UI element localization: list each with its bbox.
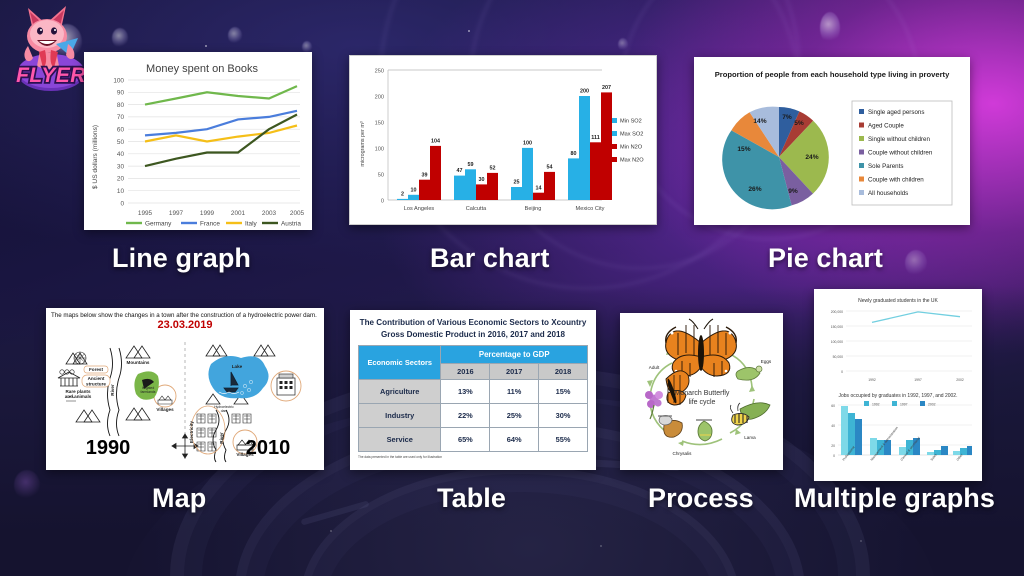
svg-text:14: 14 xyxy=(536,185,542,191)
svg-text:150,000: 150,000 xyxy=(831,325,843,329)
svg-text:farmlands: farmlands xyxy=(141,390,156,394)
svg-text:50: 50 xyxy=(117,139,125,146)
pie-legend-all-households: All households xyxy=(868,190,908,197)
background-star-2 xyxy=(468,30,470,32)
svg-text:100: 100 xyxy=(523,141,532,147)
svg-text:250: 250 xyxy=(375,68,384,74)
svg-text:0: 0 xyxy=(120,200,124,207)
map-hotel-icon xyxy=(271,371,301,401)
svg-text:10: 10 xyxy=(411,187,417,193)
svg-text:20: 20 xyxy=(831,444,835,448)
cell-industry-2017: 25% xyxy=(490,404,539,428)
svg-text:1997: 1997 xyxy=(914,378,922,382)
pie-label-24: 24% xyxy=(805,154,818,161)
bar-category-beijing: Beijing xyxy=(525,206,542,212)
cell-service-2016: 65% xyxy=(441,428,490,452)
line-graph-svg: Money spent on Books $ US dollars (milli… xyxy=(84,52,312,230)
bokeh-orb-3 xyxy=(228,27,242,44)
svg-text:60: 60 xyxy=(831,404,835,408)
svg-text:2005: 2005 xyxy=(290,210,305,217)
caption-map: Map xyxy=(152,483,206,514)
svg-text:2001: 2001 xyxy=(231,210,246,217)
background-star-4 xyxy=(330,530,332,532)
pie-legend-single-aged-persons: Single aged persons xyxy=(868,109,924,116)
svg-text:dam: dam xyxy=(221,409,228,413)
multi-legend-1992: 1992 xyxy=(872,403,880,407)
background-star-6 xyxy=(860,540,862,542)
bar-category-mexico-city: Mexico City xyxy=(576,206,605,212)
caption-process: Process xyxy=(648,483,754,514)
caption-multiple-graphs: Multiple graphs xyxy=(794,483,995,514)
cell-service-2018: 55% xyxy=(539,428,588,452)
svg-text:200,000: 200,000 xyxy=(831,310,843,314)
legend-label-france: France xyxy=(200,220,220,227)
svg-text:Mountains: Mountains xyxy=(127,360,150,365)
bar-legend-max-n2o: Max N2O xyxy=(620,158,644,164)
svg-text:30: 30 xyxy=(117,163,125,170)
pie-legend-sole-parents: Sole Parents xyxy=(868,163,903,170)
pie-label-9: 9% xyxy=(788,188,798,195)
multi-line-title: Newly graduated students in the UK xyxy=(858,298,938,304)
svg-text:0: 0 xyxy=(381,198,384,204)
svg-text:1999: 1999 xyxy=(200,210,215,217)
svg-text:Lake: Lake xyxy=(232,364,243,369)
line-graph-panel: Money spent on Books $ US dollars (milli… xyxy=(84,52,312,230)
svg-text:111: 111 xyxy=(591,135,599,141)
table-footnote: The data presented in the table are used… xyxy=(358,455,588,459)
svg-text:Electricity: Electricity xyxy=(189,421,194,443)
caption-table: Table xyxy=(437,483,506,514)
svg-text:River: River xyxy=(219,432,224,444)
svg-text:80: 80 xyxy=(117,102,125,109)
multi-bar-title: Jobs occupied by graduates in 1992, 1997… xyxy=(839,393,958,399)
table-title-line1: The Contribution of Various Economic Sec… xyxy=(360,318,587,327)
svg-text:50: 50 xyxy=(378,172,384,178)
multiple-graphs-svg: Newly graduated students in the UK 200,0… xyxy=(814,289,982,481)
map-compass xyxy=(172,434,198,458)
svg-text:20: 20 xyxy=(117,176,125,183)
cell-agriculture-2017: 11% xyxy=(490,380,539,404)
svg-text:54: 54 xyxy=(547,165,553,171)
table-title: The Contribution of Various Economic Sec… xyxy=(358,317,588,340)
svg-text:40: 40 xyxy=(831,424,835,428)
svg-text:207: 207 xyxy=(602,85,611,91)
line-graph-title: Money spent on Books xyxy=(146,63,258,75)
svg-text:40: 40 xyxy=(117,151,125,158)
bar-legend-min-so2: Min SO2 xyxy=(620,119,642,125)
svg-text:60: 60 xyxy=(117,127,125,134)
bokeh-orb-8 xyxy=(14,470,40,500)
svg-text:0: 0 xyxy=(833,454,835,458)
table-row: Agriculture 13% 11% 15% xyxy=(359,380,588,404)
svg-text:25: 25 xyxy=(514,180,520,186)
svg-text:150: 150 xyxy=(375,120,384,126)
table-row: Industry 22% 25% 30% xyxy=(359,404,588,428)
svg-text:30: 30 xyxy=(479,177,485,183)
table-header-row-1: Economic Sectors Percentage to GDP xyxy=(359,346,588,364)
line-graph-ylabel: $ US dollars (millions) xyxy=(92,125,99,189)
svg-text:River: River xyxy=(110,384,115,396)
svg-text:104: 104 xyxy=(431,139,440,145)
legend-label-austria: Austria xyxy=(281,220,301,227)
table-panel: The Contribution of Various Economic Sec… xyxy=(350,310,596,470)
multi-bar-legend: 1992 1997 2002 xyxy=(864,401,936,407)
pie-label-26: 26% xyxy=(748,186,761,193)
map-illustration: Forest Ancient structure Rare plants and… xyxy=(46,342,324,470)
table-col-2018: 2018 xyxy=(539,364,588,380)
cell-agriculture-2018: 15% xyxy=(539,380,588,404)
table-col-2016: 2016 xyxy=(441,364,490,380)
bar-legend-max-so2: Max SO2 xyxy=(620,132,643,138)
svg-text:structure: structure xyxy=(86,381,106,386)
svg-text:Villages: Villages xyxy=(156,407,174,412)
pie-chart-panel: Proportion of people from each household… xyxy=(694,57,970,225)
svg-text:1995: 1995 xyxy=(138,210,153,217)
process-panel: Monarch Butterfly life cycle Adult Eggs … xyxy=(620,313,783,470)
legend-label-italy: Italy xyxy=(245,220,258,227)
svg-text:200: 200 xyxy=(375,94,384,100)
svg-text:47: 47 xyxy=(457,168,463,174)
map-date: 23.03.2019 xyxy=(46,319,324,331)
map-panel: The maps below show the changes in a tow… xyxy=(46,308,324,470)
multiple-graphs-panel: Newly graduated students in the UK 200,0… xyxy=(814,289,982,481)
background-star-1 xyxy=(205,45,207,47)
svg-text:80: 80 xyxy=(571,151,577,157)
process-svg: Monarch Butterfly life cycle Adult Eggs … xyxy=(620,313,783,470)
svg-text:52: 52 xyxy=(490,166,496,172)
svg-text:and animals: and animals xyxy=(65,394,92,399)
table-corner-header: Economic Sectors xyxy=(359,346,441,380)
process-stage-adult: Adult xyxy=(649,365,660,370)
svg-text:50,000: 50,000 xyxy=(833,355,843,359)
table-row-label-agriculture: Agriculture xyxy=(359,380,441,404)
bar-legend-min-n2o: Min N2O xyxy=(620,145,643,151)
svg-text:1997: 1997 xyxy=(169,210,184,217)
svg-text:100: 100 xyxy=(113,77,124,84)
svg-text:70: 70 xyxy=(117,114,125,121)
svg-text:59: 59 xyxy=(468,162,474,168)
cell-service-2017: 64% xyxy=(490,428,539,452)
svg-text:2002: 2002 xyxy=(956,378,964,382)
legend-label-germany: Germany xyxy=(145,220,172,227)
pie-legend-couple-with-children: Couple with children xyxy=(868,177,924,184)
cell-agriculture-2016: 13% xyxy=(441,380,490,404)
svg-text:100,000: 100,000 xyxy=(831,340,843,344)
pie-chart-title: Proportion of people from each household… xyxy=(715,70,950,79)
bar-chart-ylabel: micrograms per m³ xyxy=(360,121,366,166)
svg-text:1992: 1992 xyxy=(868,378,876,382)
caption-pie-chart: Pie chart xyxy=(768,243,883,274)
svg-text:0: 0 xyxy=(841,370,843,374)
background-star-5 xyxy=(600,545,602,547)
svg-text:200: 200 xyxy=(580,89,589,95)
table-row-label-industry: Industry xyxy=(359,404,441,428)
pie-legend-couple-without-children: Couple without children xyxy=(868,150,933,157)
table-group-header: Percentage to GDP xyxy=(441,346,588,364)
process-stage-larva: Larva xyxy=(744,435,756,440)
cell-industry-2018: 30% xyxy=(539,404,588,428)
pie-legend-single-without-children: Single without children xyxy=(868,136,930,143)
multi-legend-2002: 2002 xyxy=(928,403,936,407)
bar-chart-svg: micrograms per m³ 250200150 100500 2 10 … xyxy=(350,56,656,224)
map-year-2010: 2010 xyxy=(246,437,291,459)
cell-industry-2016: 22% xyxy=(441,404,490,428)
multi-legend-1997: 1997 xyxy=(900,403,908,407)
pie-label-7: 7% xyxy=(782,114,792,121)
svg-text:Forest: Forest xyxy=(89,367,104,372)
gdp-table: Economic Sectors Percentage to GDP 2016 … xyxy=(358,345,588,452)
caption-line-graph: Line graph xyxy=(112,243,251,274)
pie-chart-svg: Proportion of people from each household… xyxy=(694,57,970,225)
svg-text:39: 39 xyxy=(422,172,428,178)
pie-label-15: 15% xyxy=(737,146,750,153)
bar-chart-panel: micrograms per m³ 250200150 100500 2 10 … xyxy=(349,55,657,225)
process-title-line2: life cycle xyxy=(689,399,716,406)
table-row: Service 65% 64% 55% xyxy=(359,428,588,452)
bokeh-orb-7 xyxy=(905,250,927,276)
process-stage-eggs: Eggs xyxy=(761,359,772,364)
svg-text:2003: 2003 xyxy=(262,210,277,217)
process-title-line1: Monarch Butterfly xyxy=(675,390,730,397)
pie-legend-aged-couple: Aged Couple xyxy=(868,123,904,130)
table-row-label-service: Service xyxy=(359,428,441,452)
svg-text:2: 2 xyxy=(401,192,404,198)
bokeh-orb-5 xyxy=(618,38,628,51)
bar-category-los-angeles: Los Angeles xyxy=(404,206,435,212)
svg-text:Ancient: Ancient xyxy=(88,376,105,381)
map-year-1990: 1990 xyxy=(86,437,131,459)
process-stage-chrysalis: Chrysalis xyxy=(673,451,693,456)
bar-category-calcutta: Calcutta xyxy=(466,206,487,212)
bokeh-orb-6 xyxy=(820,12,840,44)
pie-label-5: 5% xyxy=(794,120,804,127)
table-col-2017: 2017 xyxy=(490,364,539,380)
svg-text:90: 90 xyxy=(117,90,125,97)
svg-text:10: 10 xyxy=(117,188,125,195)
caption-bar-chart: Bar chart xyxy=(430,243,549,274)
svg-text:100: 100 xyxy=(375,146,384,152)
bokeh-orb-2 xyxy=(112,28,128,48)
pie-label-14: 14% xyxy=(753,118,766,125)
table-title-line2: Gross Domestic Product in 2016, 2017 and… xyxy=(381,330,565,339)
svg-text:FLYER: FLYER xyxy=(16,64,86,87)
